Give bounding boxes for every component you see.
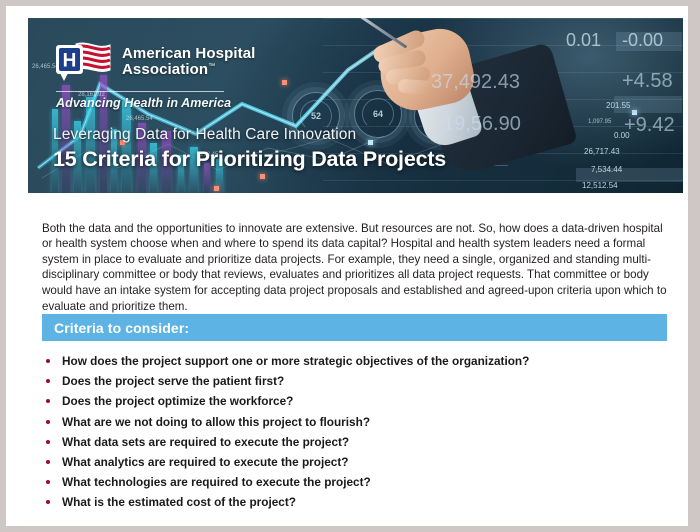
page-title: 15 Criteria for Prioritizing Data Projec… <box>53 147 446 171</box>
criteria-list-item: Does the project serve the patient first… <box>44 371 664 391</box>
hero-number: 37,492.43 <box>431 71 520 94</box>
aha-tagline: Advancing Health in America <box>56 96 255 110</box>
criteria-list-item-label: What technologies are required to execut… <box>62 475 371 489</box>
aha-org-name-line1: American Hospital <box>122 46 255 62</box>
criteria-list-item: What is the estimated cost of the projec… <box>44 492 664 512</box>
criteria-list-item: What analytics are required to execute t… <box>44 452 664 472</box>
hero-node-marker <box>282 80 287 85</box>
hero-gauge-value: 52 <box>311 111 321 121</box>
trademark-symbol: ™ <box>208 63 215 70</box>
criteria-list-item-label: How does the project support one or more… <box>62 354 529 368</box>
bullet-dot-icon <box>46 500 50 504</box>
criteria-list-item-label: What is the estimated cost of the projec… <box>62 495 296 509</box>
bullet-dot-icon <box>46 440 50 444</box>
page-border-frame: 52 64 85 <box>0 0 700 532</box>
hero-number: +9.42 <box>624 114 675 137</box>
bullet-dot-icon <box>46 480 50 484</box>
hero-number: 19,56.90 <box>443 113 521 136</box>
bullet-dot-icon <box>46 399 50 403</box>
hero-number: 26,465.54 <box>126 116 153 122</box>
bullet-dot-icon <box>46 359 50 363</box>
criteria-list-item-label: What analytics are required to execute t… <box>62 455 348 469</box>
hero-number: 201.55 <box>606 101 630 110</box>
criteria-list-item-label: What are we not doing to allow this proj… <box>62 415 370 429</box>
hero-number: +4.58 <box>622 70 673 93</box>
criteria-list-item: Does the project optimize the workforce? <box>44 391 664 411</box>
hero-number: 26,717.43 <box>584 147 620 156</box>
hero-number: 0.00 <box>614 131 630 140</box>
bullet-dot-icon <box>46 460 50 464</box>
bullet-dot-icon <box>46 379 50 383</box>
aha-org-name-line2: Association™ <box>122 62 255 78</box>
aha-logo-lockup: H American Hospital Association™ Advanci… <box>54 40 255 110</box>
logo-divider <box>56 91 224 92</box>
criteria-list-item-label: Does the project serve the patient first… <box>62 374 284 388</box>
intro-paragraph: Both the data and the opportunities to i… <box>42 221 668 315</box>
bullet-dot-icon <box>46 420 50 424</box>
hero-number: 0.01 <box>566 30 601 51</box>
criteria-section-bar: Criteria to consider: <box>42 314 667 341</box>
hero-node-marker <box>260 174 265 179</box>
criteria-list-item: What technologies are required to execut… <box>44 472 664 492</box>
aha-h-flag-logo-icon: H <box>54 40 114 84</box>
hero-banner: 52 64 85 <box>28 18 683 193</box>
criteria-list-item-label: What data sets are required to execute t… <box>62 435 349 449</box>
aha-org-name: American Hospital Association™ <box>122 46 255 78</box>
hero-number: 7,534.44 <box>591 165 622 174</box>
criteria-list-item: How does the project support one or more… <box>44 351 664 371</box>
criteria-list-item: What data sets are required to execute t… <box>44 432 664 452</box>
criteria-list: How does the project support one or more… <box>44 351 664 513</box>
hero-number: 1,097.95 <box>588 119 611 125</box>
hero-kicker: Leveraging Data for Health Care Innovati… <box>53 126 446 144</box>
criteria-list-item-label: Does the project optimize the workforce? <box>62 394 293 408</box>
hero-number: 12,512.54 <box>582 181 618 190</box>
hero-number: -0.00 <box>622 30 663 51</box>
hero-node-marker <box>214 186 219 191</box>
criteria-list-item: What are we not doing to allow this proj… <box>44 412 664 432</box>
criteria-section-heading: Criteria to consider: <box>42 320 189 336</box>
hero-text-block: Leveraging Data for Health Care Innovati… <box>53 126 446 171</box>
document-page: 52 64 85 <box>6 6 688 526</box>
svg-text:H: H <box>63 51 77 72</box>
